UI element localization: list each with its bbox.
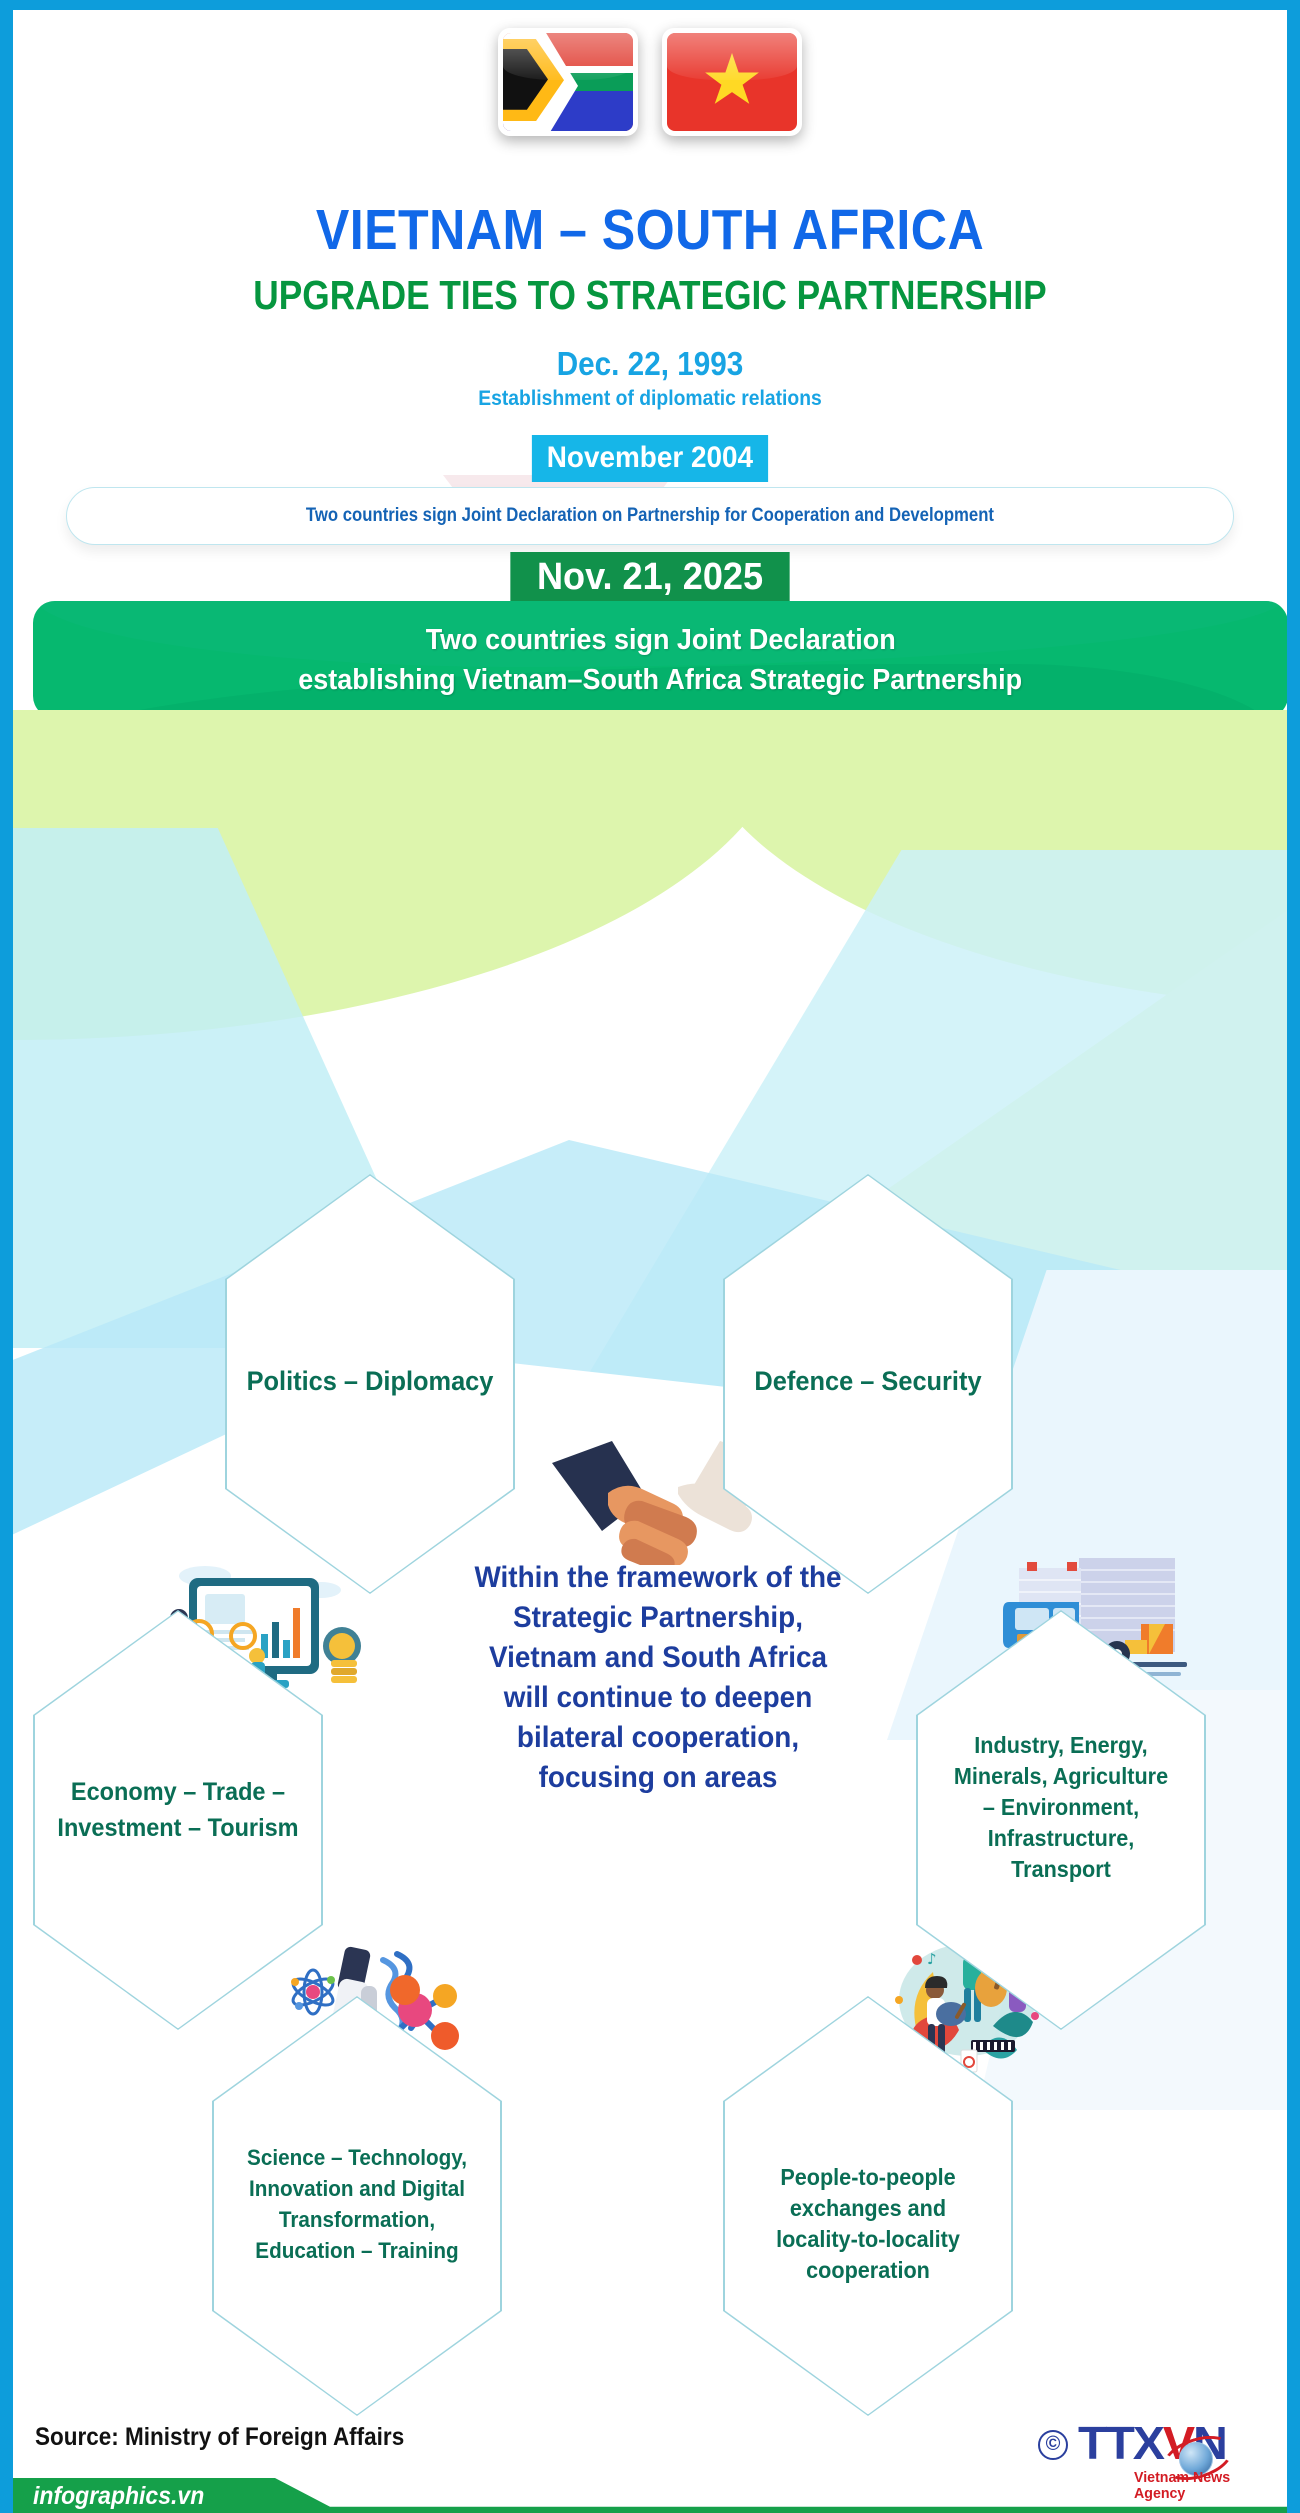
timeline-date-2004-wrap: November 2004 [13,435,1287,482]
center-paragraph-line: Within the framework of the [426,1558,891,1598]
footer-url[interactable]: infographics.vn [33,2482,204,2511]
hexagon-label: Innovation and Digital [221,2173,494,2204]
hexagon-label: Politics – Diplomacy [234,1364,507,1398]
svg-text:♪: ♪ [927,1950,937,1968]
hexagon-label: Education – Training [221,2235,494,2266]
hexagon-label: Industry, Energy, [925,1730,1198,1761]
timeline-date-2025-wrap: Nov. 21, 2025 [13,552,1287,605]
timeline-caption-1993: Establishment of diplomatic relations [64,387,1236,411]
center-paragraph-line: Vietnam and South Africa [426,1638,891,1678]
timeline-caption-2004: Two countries sign Joint Declaration on … [306,505,994,527]
timeline-date-2004: November 2004 [532,435,768,482]
center-paragraph-line: focusing on areas [426,1758,891,1798]
hexagon-label: Transformation, [221,2204,494,2235]
hexagon-label: People-to-people [732,2162,1005,2193]
timeline-banner-2025: Two countries sign Joint Declaration est… [33,601,1288,718]
timeline-date-2025: Nov. 21, 2025 [510,552,789,605]
copyright-icon: © [1038,2430,1068,2460]
hexagon-label: Infrastructure, [925,1823,1198,1854]
hexagon-label: Science – Technology, [221,2142,494,2173]
hexagon-label: Investment – Tourism [42,1810,315,1846]
hexagon-label: locality-to-locality [732,2224,1005,2255]
hexagon-label: cooperation [732,2255,1005,2286]
page-subtitle: UPGRADE TIES TO STRATEGIC PARTNERSHIP [102,272,1198,319]
hexagon-label: Minerals, Agriculture [925,1761,1198,1792]
banner-line-1: Two countries sign Joint Declaration [425,620,895,660]
center-paragraph-line: will continue to deepen [426,1678,891,1718]
page-title: VIETNAM – SOUTH AFRICA [89,197,1210,263]
ttxvn-logo-tagline: Vietnam News Agency [1134,2470,1278,2502]
hexagon-label: Defence – Security [732,1364,1005,1398]
source-label: Source: Ministry of Foreign Affairs [35,2423,404,2452]
timeline-card-2004: Two countries sign Joint Declaration on … [66,487,1234,545]
south-africa-flag [498,28,638,136]
ttxvn-logo: © TTXVN Vietnam News Agency [1036,2406,1281,2492]
hexagon-label: Economy – Trade – [42,1774,315,1810]
vietnam-flag [662,28,802,136]
hexagon-label: – Environment, [925,1792,1198,1823]
banner-line-2: establishing Vietnam–South Africa Strate… [299,660,1023,700]
center-paragraph-line: bilateral cooperation, [426,1718,891,1758]
infographic-poster: VIETNAM – SOUTH AFRICA UPGRADE TIES TO S… [0,0,1300,2513]
center-paragraph: Within the framework of the Strategic Pa… [408,1558,908,1798]
hexagon-label: Transport [925,1854,1198,1885]
timeline-date-1993: Dec. 22, 1993 [77,345,1224,383]
hexagon-label: exchanges and [732,2193,1005,2224]
flags-row [13,28,1287,136]
center-paragraph-line: Strategic Partnership, [426,1598,891,1638]
